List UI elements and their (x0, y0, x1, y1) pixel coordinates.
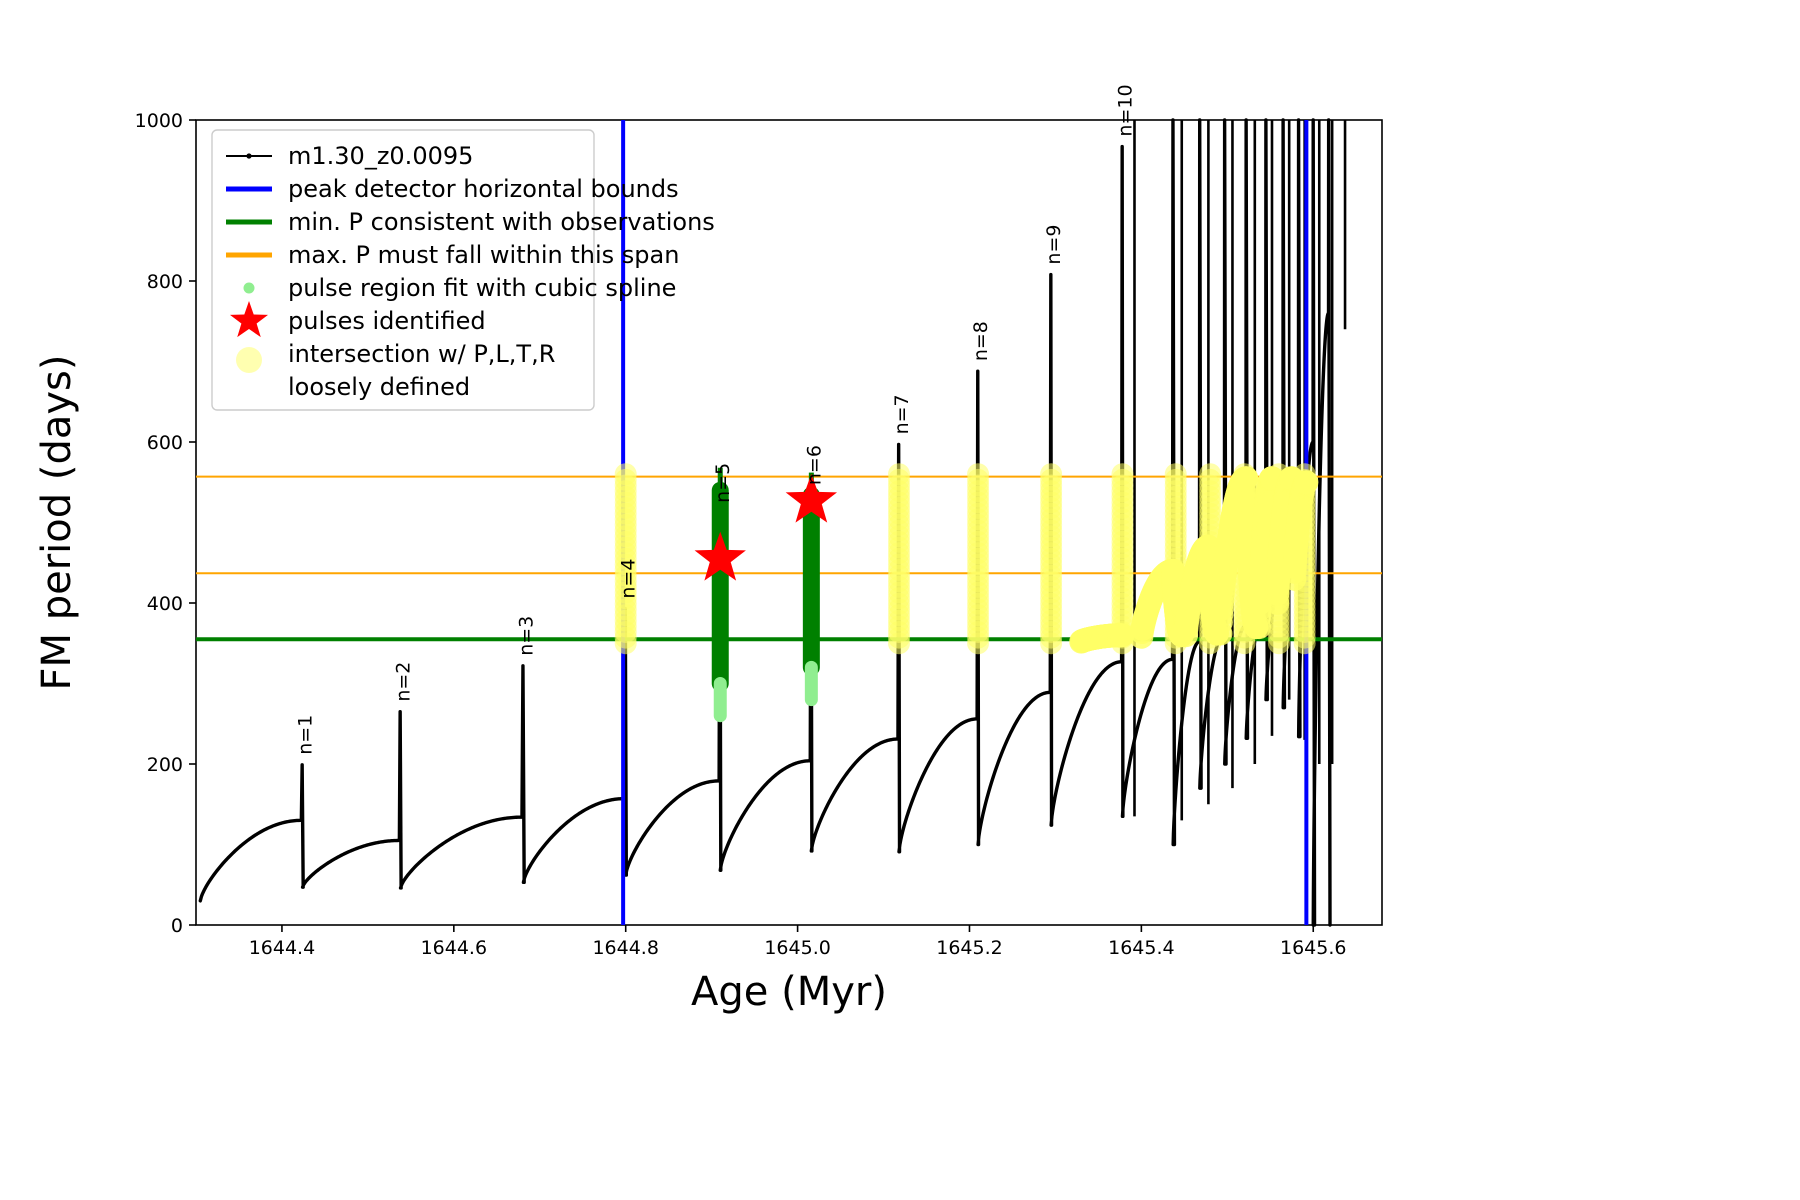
intersection-marker (1294, 470, 1318, 494)
harmonic-label: n=1 (295, 715, 317, 755)
intersection-marker (1111, 463, 1133, 485)
x-tick-label: 1645.6 (1280, 937, 1346, 959)
x-tick-label: 1644.4 (249, 937, 315, 959)
legend-label: min. P consistent with observations (288, 208, 715, 236)
legend-item[interactable]: pulse region fit with cubic spline (244, 274, 677, 302)
x-axis-label: Age (Myr) (691, 969, 887, 1015)
legend-label: max. P must fall within this span (288, 241, 679, 269)
y-tick-label: 0 (171, 915, 183, 937)
legend-item[interactable]: min. P consistent with observations (226, 208, 715, 236)
harmonic-label: n=7 (891, 394, 913, 434)
harmonic-label: n=6 (803, 445, 825, 485)
legend-item[interactable]: loosely defined (288, 373, 470, 401)
legend-box (212, 130, 594, 410)
harmonic-label: n=5 (712, 463, 734, 503)
intersection-marker (1165, 463, 1187, 485)
legend-label: pulses identified (288, 307, 486, 335)
intersection-marker (1040, 463, 1062, 485)
harmonic-label: n=3 (515, 616, 537, 656)
harmonic-label: n=2 (393, 662, 415, 702)
x-tick-label: 1644.6 (421, 937, 487, 959)
x-tick-label: 1645.0 (764, 937, 830, 959)
legend-label: m1.30_z0.0095 (288, 142, 473, 170)
figure-canvas: n=1n=2n=3n=4n=5n=6n=7n=8n=9n=10 1644.416… (0, 0, 1800, 1200)
legend-label: intersection w/ P,L,T,R (288, 340, 555, 368)
legend-label: pulse region fit with cubic spline (288, 274, 676, 302)
legend-item[interactable]: max. P must fall within this span (226, 241, 679, 269)
intersection-marker (615, 463, 637, 485)
x-tick-label: 1645.2 (936, 937, 1002, 959)
y-tick-label: 600 (147, 432, 183, 454)
harmonic-label: n=10 (1114, 84, 1136, 136)
legend-dot-marker (246, 153, 251, 158)
legend-label: loosely defined (288, 373, 470, 401)
intersection-marker (888, 463, 910, 485)
legend-dot-swatch (244, 283, 255, 294)
legend-item[interactable]: peak detector horizontal bounds (226, 175, 679, 203)
y-axis-label: FM period (days) (34, 355, 80, 691)
harmonic-label: n=8 (970, 321, 992, 361)
x-tick-label: 1645.4 (1108, 937, 1174, 959)
intersection-marker (1199, 463, 1221, 485)
x-tick-label: 1644.8 (592, 937, 658, 959)
intersection-marker (967, 463, 989, 485)
legend-circle-swatch (236, 347, 262, 373)
matplotlib-figure: n=1n=2n=3n=4n=5n=6n=7n=8n=9n=10 1644.416… (0, 0, 1800, 1200)
harmonic-label: n=4 (618, 559, 640, 599)
y-tick-label: 1000 (135, 110, 183, 132)
legend-label: peak detector horizontal bounds (288, 175, 679, 203)
y-tick-label: 200 (147, 754, 183, 776)
y-tick-label: 400 (147, 593, 183, 615)
y-tick-label: 800 (147, 271, 183, 293)
harmonic-label: n=9 (1043, 224, 1065, 264)
